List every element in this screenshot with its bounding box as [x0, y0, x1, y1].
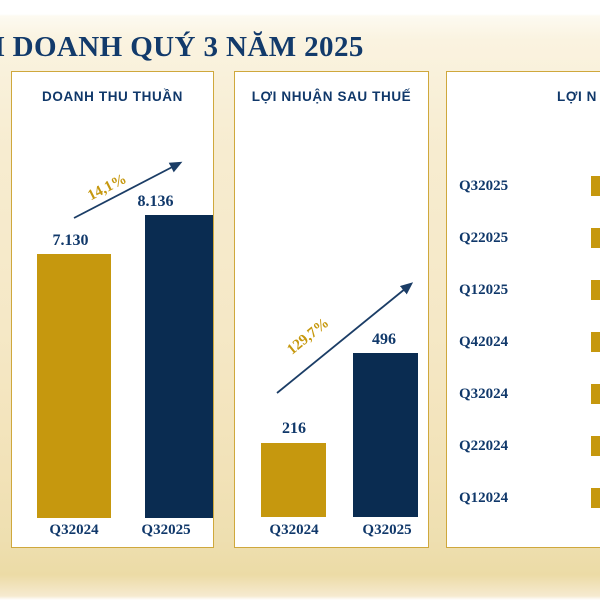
hbar-q32024 [591, 384, 600, 404]
hbar-q22024 [591, 436, 600, 456]
hrow-label-q32025: Q32025 [459, 175, 508, 197]
hrow-label-q12024: Q12024 [459, 487, 508, 509]
hrow-label-q42024: Q42024 [459, 331, 508, 353]
hbar-q22025 [591, 228, 600, 248]
bar-value-revenue-0: 7.130 [26, 232, 115, 250]
list-item: Q22025 [447, 227, 600, 249]
list-item: Q42024 [447, 331, 600, 353]
hrow-label-q32024: Q32024 [459, 383, 508, 405]
cat-label-profit-1: Q32025 [339, 522, 429, 539]
bar-value-profit-0: 216 [260, 420, 328, 438]
list-item: Q32025 [447, 175, 600, 197]
list-item: Q12024 [447, 487, 600, 509]
list-item: Q12025 [447, 279, 600, 301]
panel-quarterly: LỢI N Q32025 Q22025 Q12025 Q42024 Q32024… [446, 71, 600, 548]
panel-quarterly-title: LỢI N [447, 89, 600, 104]
list-item: Q22024 [447, 435, 600, 457]
hbar-q12025 [591, 280, 600, 300]
hrow-label-q22024: Q22024 [459, 435, 508, 457]
bar-revenue-0 [37, 254, 111, 518]
panel-profit: LỢI NHUẬN SAU THUẾ 129,7% 216 Q32024 496… [234, 71, 429, 548]
bar-profit-0 [261, 443, 326, 517]
cat-label-profit-0: Q32024 [246, 522, 342, 539]
hbar-q12024 [591, 488, 600, 508]
bar-value-profit-1: 496 [350, 331, 418, 349]
cat-label-revenue-1: Q32025 [118, 522, 214, 539]
hbar-q42024 [591, 332, 600, 352]
list-item: Q32024 [447, 383, 600, 405]
page-title: H DOANH QUÝ 3 NĂM 2025 [0, 28, 542, 66]
bar-profit-1 [353, 353, 418, 517]
slide-canvas: H DOANH QUÝ 3 NĂM 2025 DOANH THU THUẦN 1… [0, 0, 600, 600]
panel-revenue: DOANH THU THUẦN 14,1% 7.130 Q32024 8.136… [11, 71, 214, 548]
cat-label-revenue-0: Q32024 [26, 522, 122, 539]
hbar-q32025 [591, 176, 600, 196]
bar-value-revenue-1: 8.136 [111, 193, 200, 211]
bar-revenue-1 [145, 215, 214, 518]
hrow-label-q22025: Q22025 [459, 227, 508, 249]
hrow-label-q12025: Q12025 [459, 279, 508, 301]
